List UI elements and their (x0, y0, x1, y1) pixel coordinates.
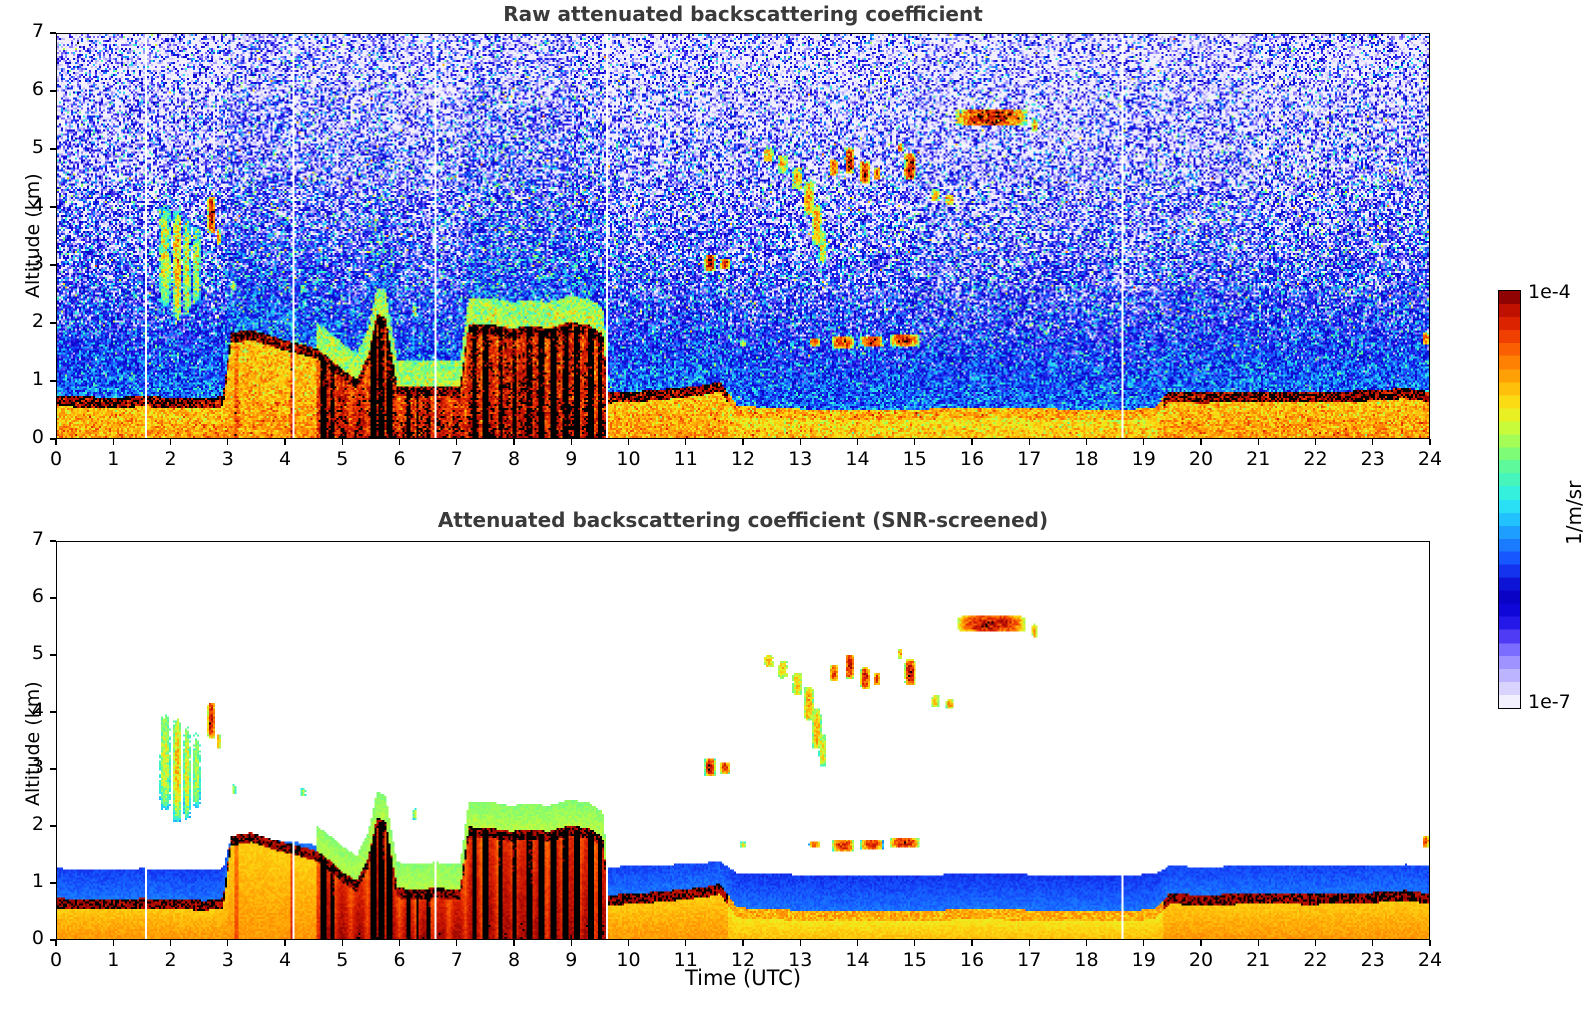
x-tick (571, 439, 572, 445)
x-tick (513, 940, 514, 946)
heatmap-canvas-screened (57, 542, 1429, 939)
y-tick (50, 711, 56, 712)
y-tick-label: 1 (10, 870, 44, 892)
y-tick-label: 6 (10, 585, 44, 607)
x-tick-label: 7 (435, 448, 479, 470)
x-tick (685, 940, 686, 946)
x-tick (1086, 940, 1087, 946)
y-tick-label: 2 (10, 310, 44, 332)
x-tick (857, 439, 858, 445)
y-axis-label-raw: Altitude (km) (22, 173, 44, 298)
x-tick-label: 21 (1236, 448, 1280, 470)
x-tick-label: 11 (664, 448, 708, 470)
x-tick-label: 18 (1065, 448, 1109, 470)
x-tick (742, 439, 743, 445)
x-tick (342, 439, 343, 445)
x-tick (456, 940, 457, 946)
x-tick (513, 439, 514, 445)
x-tick-label: 16 (950, 448, 994, 470)
x-tick (857, 940, 858, 946)
x-tick-label: 5 (320, 448, 364, 470)
x-tick (55, 940, 56, 946)
x-tick (971, 439, 972, 445)
y-tick (50, 90, 56, 91)
x-tick-label: 4 (263, 448, 307, 470)
x-tick (1143, 439, 1144, 445)
y-axis-label-screened: Altitude (km) (22, 681, 44, 806)
y-tick (50, 438, 56, 439)
x-tick (227, 940, 228, 946)
y-tick-label: 5 (10, 642, 44, 664)
x-tick-label: 15 (893, 448, 937, 470)
colorbar-max-label: 1e-4 (1528, 281, 1571, 303)
x-tick (1429, 940, 1430, 946)
x-tick (284, 940, 285, 946)
x-tick (1258, 439, 1259, 445)
x-tick (971, 940, 972, 946)
x-tick (1200, 439, 1201, 445)
y-tick-label: 0 (10, 426, 44, 448)
x-tick-label: 12 (721, 448, 765, 470)
x-tick (800, 439, 801, 445)
x-tick (628, 439, 629, 445)
y-tick-label: 2 (10, 813, 44, 835)
y-tick (50, 597, 56, 598)
x-tick (1429, 439, 1430, 445)
x-tick-label: 17 (1007, 448, 1051, 470)
x-tick (456, 439, 457, 445)
x-tick (284, 439, 285, 445)
x-tick (1143, 940, 1144, 946)
x-tick (1258, 940, 1259, 946)
y-tick (50, 654, 56, 655)
x-tick (742, 940, 743, 946)
x-tick (800, 940, 801, 946)
colorbar-unit-label: 1/m/sr (1562, 481, 1586, 545)
x-tick (399, 940, 400, 946)
y-tick (50, 206, 56, 207)
y-tick (50, 825, 56, 826)
x-tick-label: 19 (1122, 448, 1166, 470)
y-tick (50, 322, 56, 323)
heatmap-canvas-raw (57, 34, 1429, 438)
y-tick (50, 32, 56, 33)
x-tick-label: 24 (1408, 448, 1452, 470)
y-tick (50, 882, 56, 883)
plot-area-screened[interactable] (56, 541, 1430, 940)
y-tick-label: 6 (10, 78, 44, 100)
x-tick (1372, 940, 1373, 946)
x-tick-label: 6 (378, 448, 422, 470)
panel-title-screened: Attenuated backscattering coefficient (S… (56, 508, 1430, 532)
x-tick-label: 20 (1179, 448, 1223, 470)
x-tick (1372, 439, 1373, 445)
y-tick-label: 7 (10, 20, 44, 42)
colorbar-canvas (1499, 291, 1520, 708)
lidar-figure: Raw attenuated backscattering coefficien… (0, 0, 1595, 1020)
y-tick-label: 7 (10, 528, 44, 550)
x-tick (685, 439, 686, 445)
x-tick-label: 8 (492, 448, 536, 470)
x-tick (55, 439, 56, 445)
x-tick-label: 0 (34, 448, 78, 470)
x-tick-label: 10 (607, 448, 651, 470)
x-tick (227, 439, 228, 445)
x-tick (914, 439, 915, 445)
colorbar[interactable] (1498, 290, 1521, 709)
x-tick (628, 940, 629, 946)
x-tick (170, 439, 171, 445)
y-tick (50, 768, 56, 769)
x-tick-label: 2 (149, 448, 193, 470)
y-tick-label: 1 (10, 368, 44, 390)
x-tick (1315, 439, 1316, 445)
x-tick (342, 940, 343, 946)
x-tick-label: 1 (91, 448, 135, 470)
x-tick-label: 9 (549, 448, 593, 470)
y-tick-label: 5 (10, 136, 44, 158)
colorbar-min-label: 1e-7 (1528, 691, 1571, 713)
x-tick (113, 439, 114, 445)
x-tick (113, 940, 114, 946)
x-tick (1086, 439, 1087, 445)
x-tick-label: 23 (1351, 448, 1395, 470)
x-axis-label: Time (UTC) (56, 966, 1430, 990)
x-tick (571, 940, 572, 946)
y-tick (50, 264, 56, 265)
x-tick (170, 940, 171, 946)
x-tick (1029, 439, 1030, 445)
y-tick-label: 0 (10, 927, 44, 949)
x-tick (1029, 940, 1030, 946)
plot-area-raw[interactable] (56, 33, 1430, 439)
panel-title-raw: Raw attenuated backscattering coefficien… (56, 2, 1430, 26)
x-tick (914, 940, 915, 946)
y-tick (50, 148, 56, 149)
x-tick-label: 22 (1294, 448, 1338, 470)
x-tick-label: 13 (778, 448, 822, 470)
x-tick (399, 439, 400, 445)
x-tick (1200, 940, 1201, 946)
x-tick-label: 3 (206, 448, 250, 470)
x-tick-label: 14 (836, 448, 880, 470)
y-tick (50, 540, 56, 541)
x-tick (1315, 940, 1316, 946)
y-tick (50, 939, 56, 940)
y-tick (50, 380, 56, 381)
